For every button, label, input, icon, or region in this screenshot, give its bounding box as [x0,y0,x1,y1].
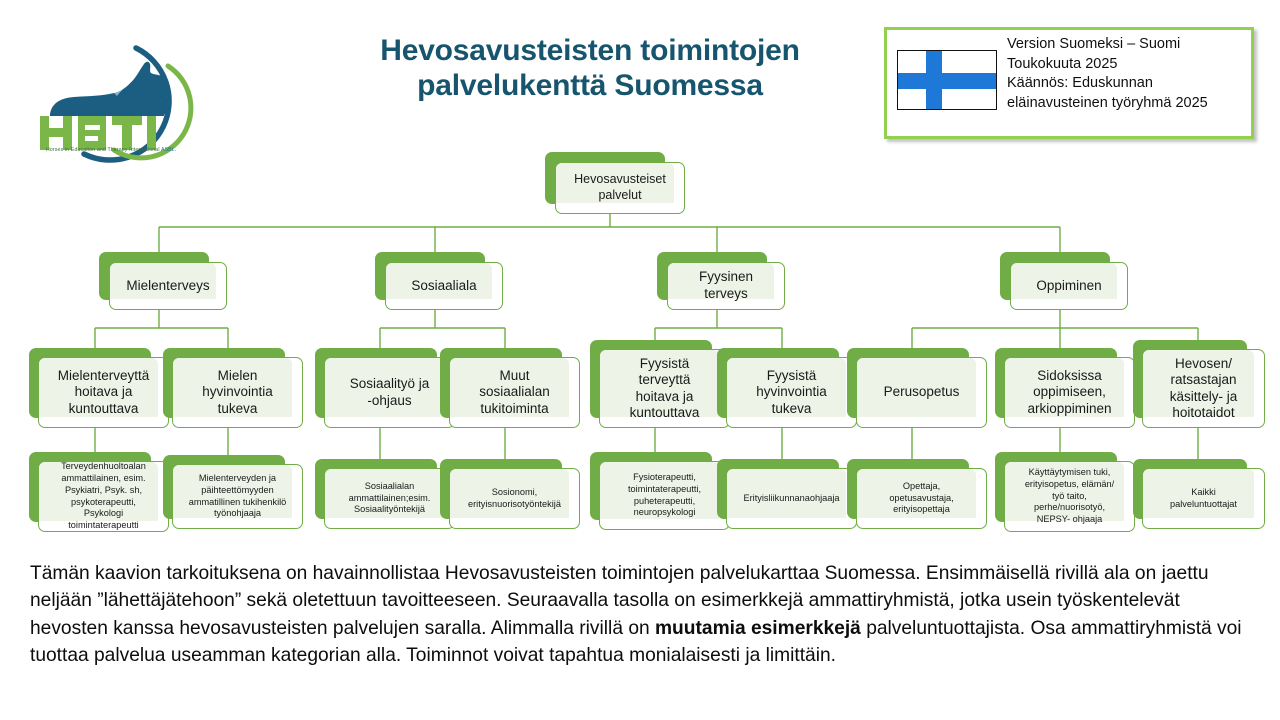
node-oppiminen[interactable]: Oppiminen [1000,252,1128,310]
flag-vertical-bar [926,51,942,109]
node-sidoksissa-oppimiseen[interactable]: Sidoksissa oppimiseen, arkioppiminen [995,348,1135,428]
slide-canvas: Horses in Education and Therapy Internat… [0,0,1280,720]
node-card[interactable]: Kaikki palveluntuottajat [1142,468,1265,529]
finland-flag-icon [897,50,997,110]
version-line-4: eläinavusteinen työryhmä 2025 [1007,94,1208,114]
node-mielenterveytta-hoitava[interactable]: Mielenterveyttä hoitava ja kuntouttava [29,348,169,428]
node-root[interactable]: Hevosavusteiset palvelut [545,152,685,214]
node-card[interactable]: Fysioterapeutti, toimintaterapeutti, puh… [599,461,730,530]
flag-horizontal-bar [898,73,996,89]
node-label: Sosiaalityö ja -ohjaus [350,376,430,408]
node-hevosen-ratsastajan[interactable]: Hevosen/ ratsastajan käsittely- ja hoito… [1133,340,1265,428]
node-card[interactable]: Käyttäytymisen tuki, erityisopetus, eläm… [1004,461,1135,532]
node-card[interactable]: Sosionomi, erityisnuorisotyöntekijä [449,468,580,529]
node-kayttaytymisen-tuki[interactable]: Käyttäytymisen tuki, erityisopetus, eläm… [995,452,1135,532]
node-erityisliikunnanaohjaaja[interactable]: Erityisliikunnanaohjaaja [717,459,857,529]
node-label: Mielenterveyttä hoitava ja kuntouttava [58,368,150,417]
node-label: Muut sosiaalialan tukitoiminta [479,368,550,417]
paragraph-bold-phrase: muutamia esimerkkejä [655,618,861,639]
node-label: Mielen hyvinvointia tukeva [202,368,273,417]
node-label: Mielenterveys [126,278,209,295]
node-card[interactable]: Hevosen/ ratsastajan käsittely- ja hoito… [1142,349,1265,428]
node-mielen-hyvinvointia[interactable]: Mielen hyvinvointia tukeva [163,348,303,428]
node-label: Käyttäytymisen tuki, erityisopetus, eläm… [1025,467,1114,525]
node-card[interactable]: Mielenterveyden ja päihteettömyyden amma… [172,464,303,529]
node-mielenterveys[interactable]: Mielenterveys [99,252,227,310]
node-card[interactable]: Sidoksissa oppimiseen, arkioppiminen [1004,357,1135,428]
node-fysioterapeutti[interactable]: Fysioterapeutti, toimintaterapeutti, puh… [590,452,730,530]
node-label: Hevosavusteiset palvelut [574,172,666,203]
version-line-1: Version Suomeksi – Suomi [1007,35,1208,55]
node-card[interactable]: Hevosavusteiset palvelut [555,162,685,214]
node-card[interactable]: Mielenterveyttä hoitava ja kuntouttava [38,357,169,428]
node-label: Kaikki palveluntuottajat [1170,487,1237,510]
node-label: Sosiaaliala [411,278,476,295]
version-line-3: Käännös: Eduskunnan [1007,74,1208,94]
node-sosionomi[interactable]: Sosionomi, erityisnuorisotyöntekijä [440,459,580,529]
node-label: Oppiminen [1036,278,1101,295]
version-text: Version Suomeksi – Suomi Toukokuuta 2025… [1007,35,1208,114]
node-sosiaalialan-ammattilainen[interactable]: Sosiaalialan ammattilainen;esim. Sosiaal… [315,459,455,529]
node-card[interactable]: Terveydenhuoltoalan ammattilainen, esim.… [38,461,169,532]
node-perusopetus[interactable]: Perusopetus [847,348,987,428]
page-title: Hevosavusteisten toimintojen palvelukent… [300,33,880,103]
node-card[interactable]: Muut sosiaalialan tukitoiminta [449,357,580,428]
version-info-box: Version Suomeksi – Suomi Toukokuuta 2025… [884,27,1254,139]
node-card[interactable]: Oppiminen [1010,262,1128,310]
node-muut-sosiaalialan[interactable]: Muut sosiaalialan tukitoiminta [440,348,580,428]
node-card[interactable]: Sosiaalialan ammattilainen;esim. Sosiaal… [324,468,455,529]
node-card[interactable]: Opettaja, opetusavustaja, erityisopettaj… [856,468,987,529]
node-card[interactable]: Sosiaaliala [385,262,503,310]
node-fyysista-terveytta[interactable]: Fyysistä terveyttä hoitava ja kuntouttav… [590,340,730,428]
node-card[interactable]: Sosiaalityö ja -ohjaus [324,357,455,428]
node-card[interactable]: Fyysistä hyvinvointia tukeva [726,357,857,428]
page-title-line-2: palvelukenttä Suomessa [300,68,880,103]
page-title-line-1: Hevosavusteisten toimintojen [300,33,880,68]
node-terveydenhuoltoalan[interactable]: Terveydenhuoltoalan ammattilainen, esim.… [29,452,169,532]
node-label: Sidoksissa oppimiseen, arkioppiminen [1027,368,1111,417]
node-fyysista-hyvinvointia[interactable]: Fyysistä hyvinvointia tukeva [717,348,857,428]
node-card[interactable]: Perusopetus [856,357,987,428]
node-label: Terveydenhuoltoalan ammattilainen, esim.… [61,461,146,531]
node-sosiaaliala[interactable]: Sosiaaliala [375,252,503,310]
org-chart: Hevosavusteiset palvelut Mielenterveys S… [0,140,1280,545]
description-paragraph: Tämän kaavion tarkoituksena on havainnol… [30,560,1255,669]
node-label: Sosionomi, erityisnuorisotyöntekijä [468,487,561,510]
node-opettaja[interactable]: Opettaja, opetusavustaja, erityisopettaj… [847,459,987,529]
node-label: Erityisliikunnanaohjaaja [743,493,839,505]
node-card[interactable]: Erityisliikunnanaohjaaja [726,468,857,529]
node-label: Fysioterapeutti, toimintaterapeutti, puh… [628,472,701,519]
node-label: Perusopetus [884,384,960,400]
node-label: Opettaja, opetusavustaja, erityisopettaj… [889,481,953,516]
node-card[interactable]: Mielenterveys [109,262,227,310]
node-fyysinen-terveys[interactable]: Fyysinen terveys [657,252,785,310]
node-label: Fyysistä terveyttä hoitava ja kuntouttav… [630,356,700,421]
node-card[interactable]: Fyysinen terveys [667,262,785,310]
node-card[interactable]: Mielen hyvinvointia tukeva [172,357,303,428]
node-label: Mielenterveyden ja päihteettömyyden amma… [189,473,287,520]
node-kaikki-palveluntuottajat[interactable]: Kaikki palveluntuottajat [1133,459,1265,529]
node-sosiaalityo-ohjaus[interactable]: Sosiaalityö ja -ohjaus [315,348,455,428]
node-card[interactable]: Fyysistä terveyttä hoitava ja kuntouttav… [599,349,730,428]
node-label: Fyysinen terveys [699,269,753,303]
node-label: Fyysistä hyvinvointia tukeva [756,368,827,417]
node-mielenterveyden-paihteettomyyden[interactable]: Mielenterveyden ja päihteettömyyden amma… [163,455,303,529]
node-label: Sosiaalialan ammattilainen;esim. Sosiaal… [349,481,431,516]
version-line-2: Toukokuuta 2025 [1007,55,1208,75]
node-label: Hevosen/ ratsastajan käsittely- ja hoito… [1170,356,1238,421]
